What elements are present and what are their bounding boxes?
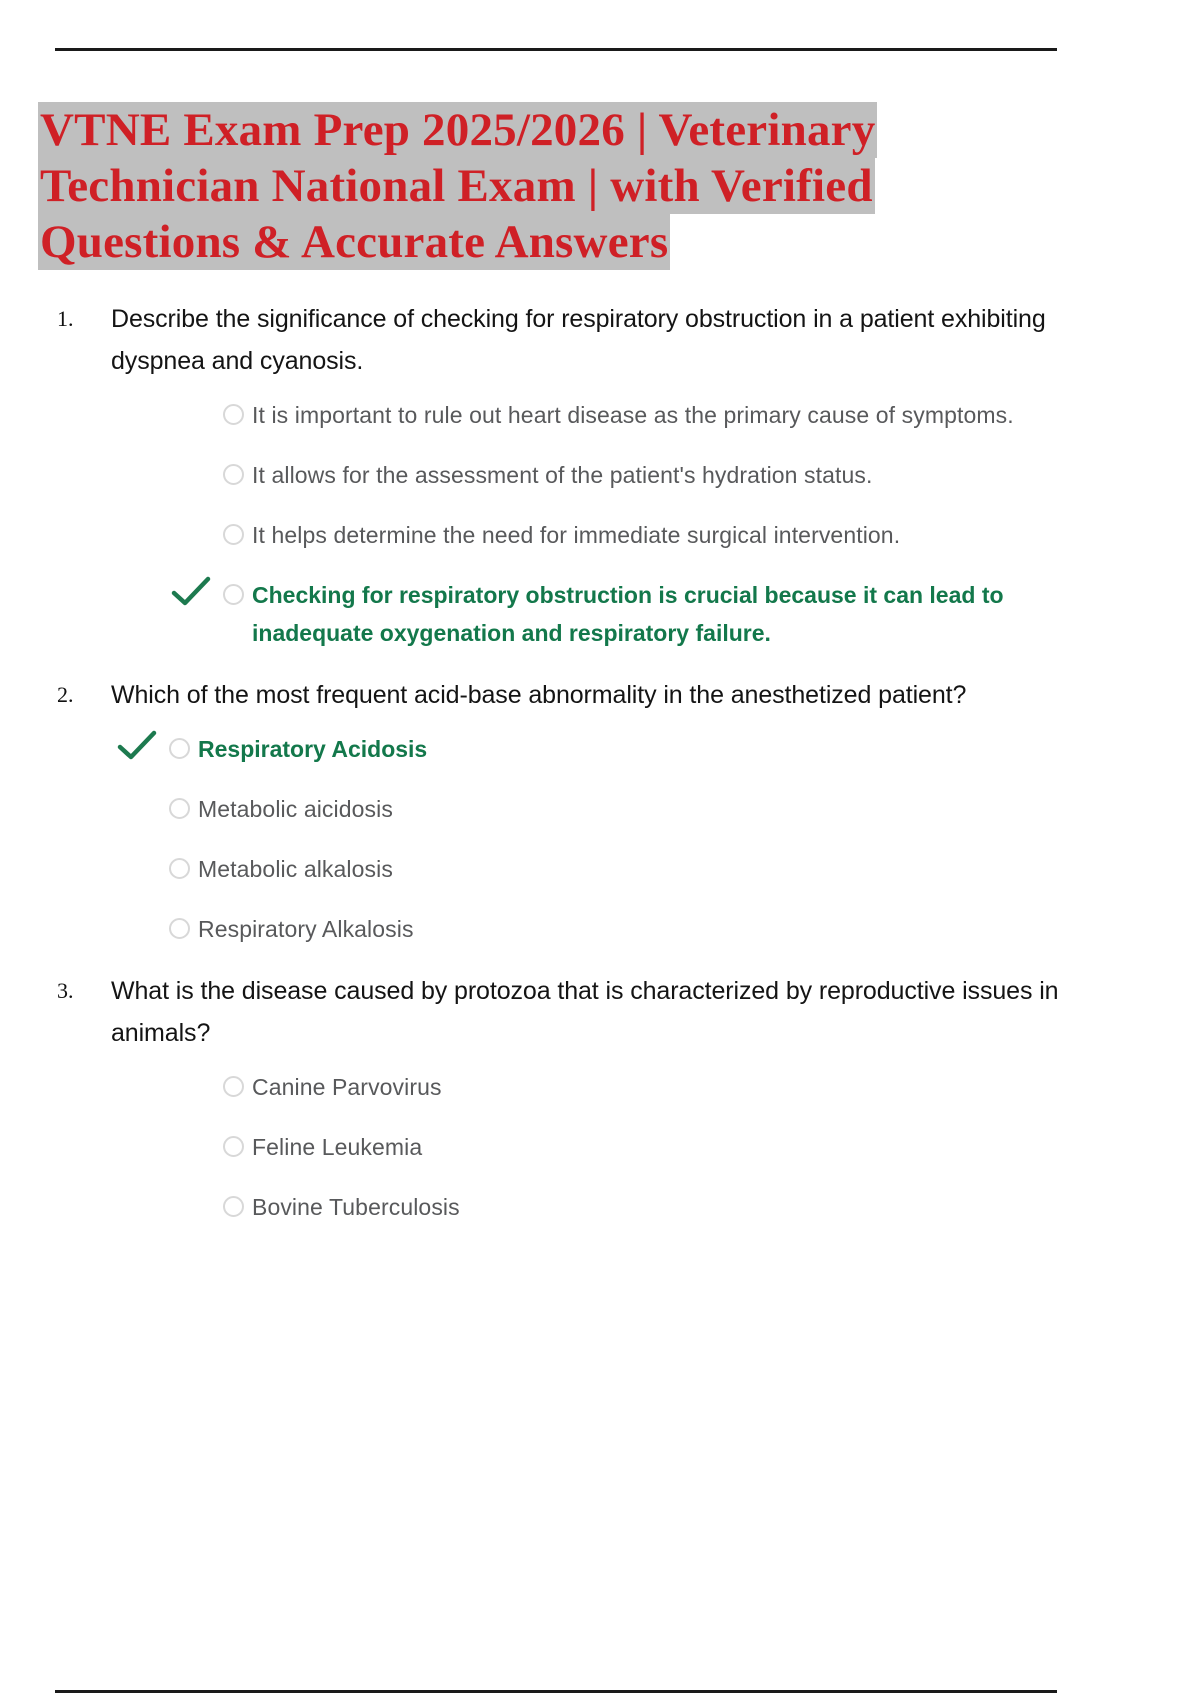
option-label: Respiratory Acidosis — [198, 730, 1080, 768]
question-header: 2.Which of the most frequent acid-base a… — [55, 674, 1080, 716]
title-line-3-text: Questions & Accurate Answers — [38, 214, 670, 270]
checkmark-slot-empty — [165, 1069, 217, 1099]
option-row[interactable]: Bovine Tuberculosis — [165, 1188, 1080, 1226]
option-label: Bovine Tuberculosis — [252, 1188, 1080, 1226]
document-page: VTNE Exam Prep 2025/2026 | Veterinary Te… — [0, 0, 1200, 1700]
question-text: What is the disease caused by protozoa t… — [111, 970, 1080, 1054]
title-line-3: Questions & Accurate Answers — [38, 214, 998, 270]
option-row[interactable]: Feline Leukemia — [165, 1128, 1080, 1166]
radio-button-icon[interactable] — [169, 858, 190, 879]
footer-rule — [55, 1690, 1057, 1693]
question-list: 1.Describe the significance of checking … — [0, 298, 1200, 1248]
option-row[interactable]: It is important to rule out heart diseas… — [165, 396, 1080, 434]
question-text: Describe the significance of checking fo… — [111, 298, 1080, 382]
radio-button-icon[interactable] — [223, 464, 244, 485]
checkmark-icon — [165, 577, 217, 607]
question-item: 2.Which of the most frequent acid-base a… — [0, 674, 1200, 948]
option-row-correct[interactable]: Checking for respiratory obstruction is … — [165, 576, 1080, 652]
option-row[interactable]: Metabolic alkalosis — [111, 850, 1080, 888]
question-item: 3.What is the disease caused by protozoa… — [0, 970, 1200, 1226]
option-label: Metabolic alkalosis — [198, 850, 1080, 888]
option-row[interactable]: It helps determine the need for immediat… — [165, 516, 1080, 554]
radio-button-icon[interactable] — [169, 738, 190, 759]
option-label: Feline Leukemia — [252, 1128, 1080, 1166]
option-label: Checking for respiratory obstruction is … — [252, 576, 1080, 652]
checkmark-slot-empty — [111, 791, 163, 821]
radio-button-icon[interactable] — [223, 584, 244, 605]
option-row[interactable]: Canine Parvovirus — [165, 1068, 1080, 1106]
checkmark-slot-empty — [165, 1129, 217, 1159]
checkmark-slot-empty — [165, 517, 217, 547]
checkmark-slot-empty — [111, 911, 163, 941]
checkmark-slot-empty — [165, 457, 217, 487]
option-label: It allows for the assessment of the pati… — [252, 456, 1080, 494]
option-row[interactable]: It allows for the assessment of the pati… — [165, 456, 1080, 494]
option-row-correct[interactable]: Respiratory Acidosis — [111, 730, 1080, 768]
question-header: 1.Describe the significance of checking … — [55, 298, 1080, 382]
question-number: 2. — [55, 674, 111, 716]
title-line-2: Technician National Exam | with Verified — [38, 158, 998, 214]
option-list: Respiratory AcidosisMetabolic aicidosisM… — [111, 730, 1080, 948]
question-text: Which of the most frequent acid-base abn… — [111, 674, 1080, 716]
question-header: 3.What is the disease caused by protozoa… — [55, 970, 1080, 1054]
radio-button-icon[interactable] — [169, 918, 190, 939]
title-line-1-text: VTNE Exam Prep 2025/2026 | Veterinary — [38, 102, 877, 158]
document-title: VTNE Exam Prep 2025/2026 | Veterinary Te… — [38, 102, 998, 270]
option-label: Canine Parvovirus — [252, 1068, 1080, 1106]
question-item: 1.Describe the significance of checking … — [0, 298, 1200, 652]
radio-button-icon[interactable] — [223, 1196, 244, 1217]
radio-button-icon[interactable] — [169, 798, 190, 819]
option-label: It helps determine the need for immediat… — [252, 516, 1080, 554]
option-list: It is important to rule out heart diseas… — [165, 396, 1080, 652]
radio-button-icon[interactable] — [223, 404, 244, 425]
question-number: 3. — [55, 970, 111, 1012]
checkmark-slot-empty — [165, 397, 217, 427]
radio-button-icon[interactable] — [223, 524, 244, 545]
title-line-1: VTNE Exam Prep 2025/2026 | Veterinary — [38, 102, 998, 158]
checkmark-slot-empty — [111, 851, 163, 881]
option-label: Metabolic aicidosis — [198, 790, 1080, 828]
title-line-2-text: Technician National Exam | with Verified — [38, 158, 875, 214]
radio-button-icon[interactable] — [223, 1076, 244, 1097]
checkmark-slot-empty — [165, 1189, 217, 1219]
option-label: Respiratory Alkalosis — [198, 910, 1080, 948]
question-number: 1. — [55, 298, 111, 340]
header-rule — [55, 48, 1057, 51]
radio-button-icon[interactable] — [223, 1136, 244, 1157]
option-label: It is important to rule out heart diseas… — [252, 396, 1080, 434]
option-row[interactable]: Metabolic aicidosis — [111, 790, 1080, 828]
checkmark-icon — [111, 731, 163, 761]
option-row[interactable]: Respiratory Alkalosis — [111, 910, 1080, 948]
option-list: Canine ParvovirusFeline LeukemiaBovine T… — [165, 1068, 1080, 1226]
